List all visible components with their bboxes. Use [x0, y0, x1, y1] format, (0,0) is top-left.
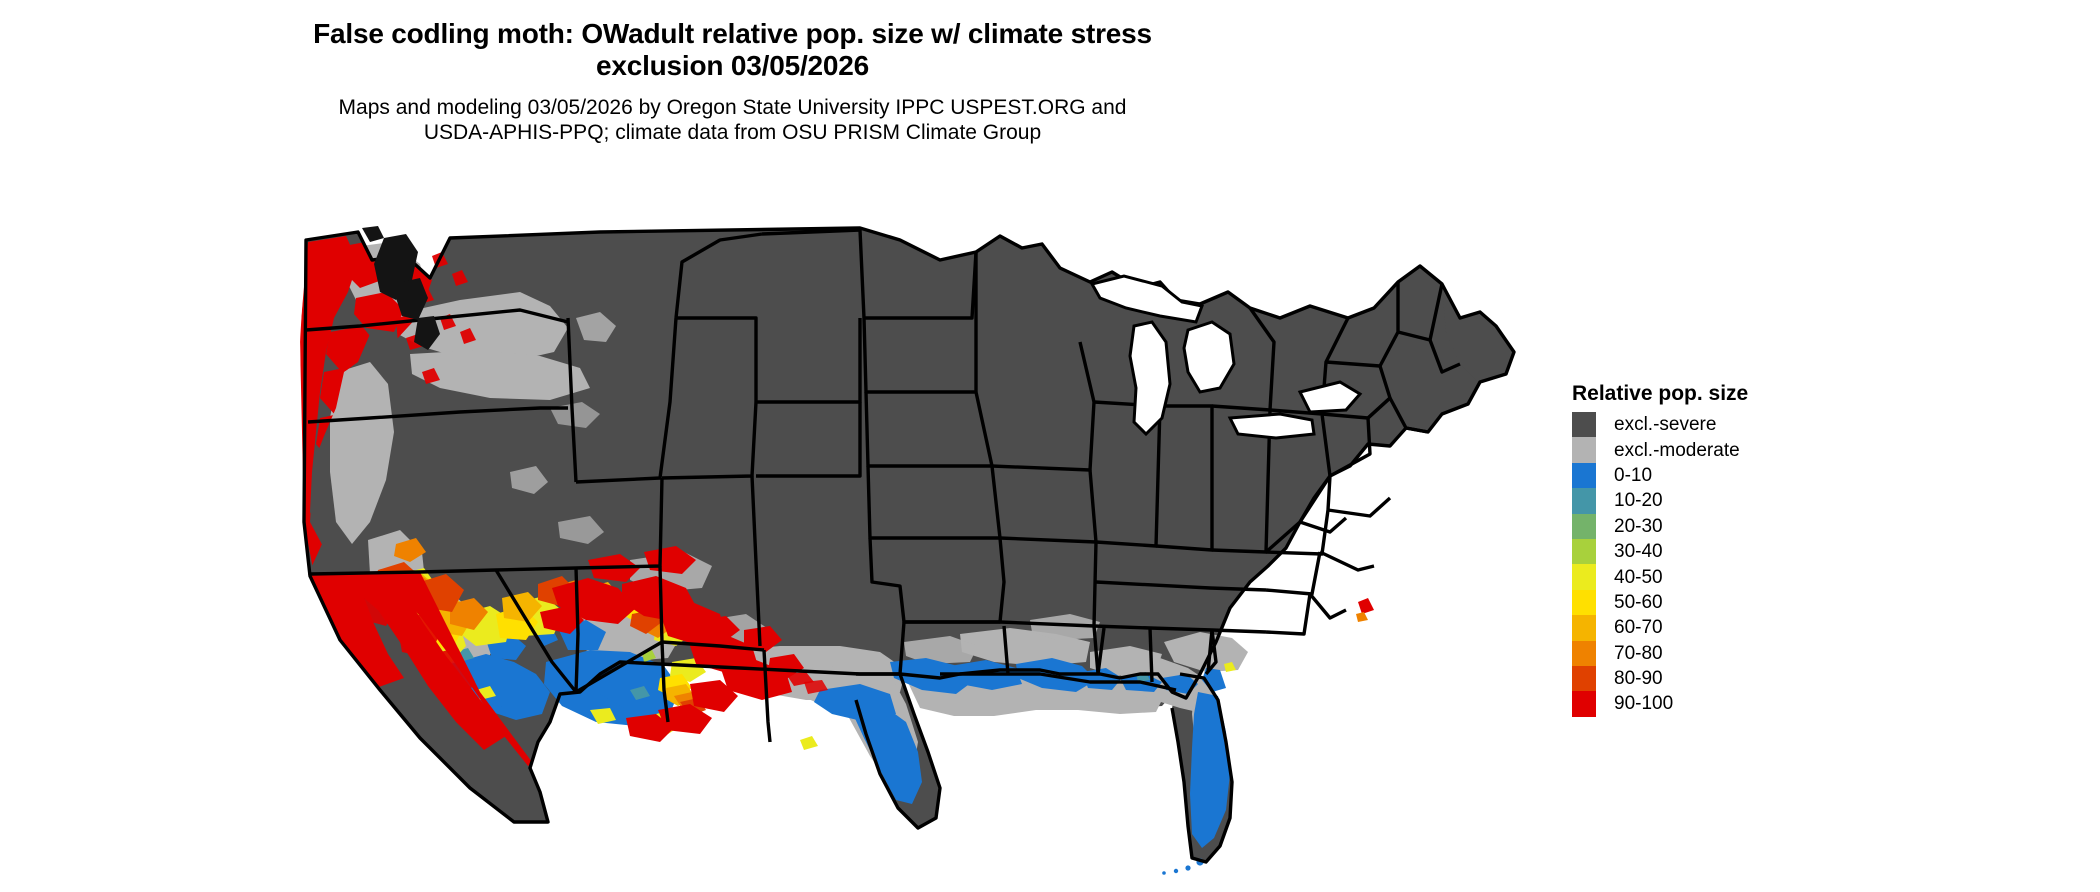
legend-swatch [1572, 564, 1596, 589]
legend-item-list: excl.-severeexcl.-moderate0-1010-2020-30… [1572, 412, 1872, 717]
legend-item: 30-40 [1572, 539, 1872, 564]
figure-subtitle-line-1: Maps and modeling 03/05/2026 by Oregon S… [0, 95, 1465, 120]
legend-swatch [1572, 615, 1596, 640]
legend-item: 0-10 [1572, 463, 1872, 488]
legend-label: 70-80 [1614, 644, 1663, 663]
legend-item: 70-80 [1572, 641, 1872, 666]
legend-item: excl.-severe [1572, 412, 1872, 437]
legend-item: 40-50 [1572, 564, 1872, 589]
map-canvas [300, 222, 1550, 890]
legend-label: 20-30 [1614, 517, 1663, 536]
legend-item: 90-100 [1572, 691, 1872, 716]
legend-item: 20-30 [1572, 514, 1872, 539]
map-figure: False codling moth: OWadult relative pop… [0, 0, 2100, 892]
legend-swatch [1572, 641, 1596, 666]
legend-swatch [1572, 463, 1596, 488]
legend-item: 80-90 [1572, 666, 1872, 691]
legend-label: excl.-moderate [1614, 441, 1740, 460]
legend-swatch [1572, 514, 1596, 539]
legend-swatch [1572, 539, 1596, 564]
legend-label: 10-20 [1614, 491, 1663, 510]
legend-title: Relative pop. size [1572, 382, 1872, 406]
figure-title-line-2: exclusion 03/05/2026 [0, 50, 1465, 82]
figure-subtitle: Maps and modeling 03/05/2026 by Oregon S… [0, 95, 1465, 145]
legend-swatch [1572, 691, 1596, 716]
figure-header: False codling moth: OWadult relative pop… [0, 18, 1465, 146]
legend-item: 50-60 [1572, 590, 1872, 615]
figure-subtitle-line-2: USDA-APHIS-PPQ; climate data from OSU PR… [0, 120, 1465, 145]
figure-title-line-1: False codling moth: OWadult relative pop… [0, 18, 1465, 50]
legend-label: 30-40 [1614, 542, 1663, 561]
legend-label: 0-10 [1614, 466, 1652, 485]
legend-swatch [1572, 488, 1596, 513]
legend-label: 60-70 [1614, 618, 1663, 637]
legend-label: 90-100 [1614, 694, 1673, 713]
legend-label: 50-60 [1614, 593, 1663, 612]
legend-item: 60-70 [1572, 615, 1872, 640]
legend-label: 80-90 [1614, 669, 1663, 688]
legend-swatch [1572, 666, 1596, 691]
legend-item: excl.-moderate [1572, 437, 1872, 462]
map-legend: Relative pop. size excl.-severeexcl.-mod… [1572, 382, 1872, 717]
us-choropleth-map [300, 222, 1550, 890]
legend-swatch [1572, 437, 1596, 462]
figure-title: False codling moth: OWadult relative pop… [0, 18, 1465, 81]
legend-label: 40-50 [1614, 568, 1663, 587]
legend-label: excl.-severe [1614, 415, 1716, 434]
legend-swatch [1572, 590, 1596, 615]
legend-item: 10-20 [1572, 488, 1872, 513]
legend-swatch [1572, 412, 1596, 437]
